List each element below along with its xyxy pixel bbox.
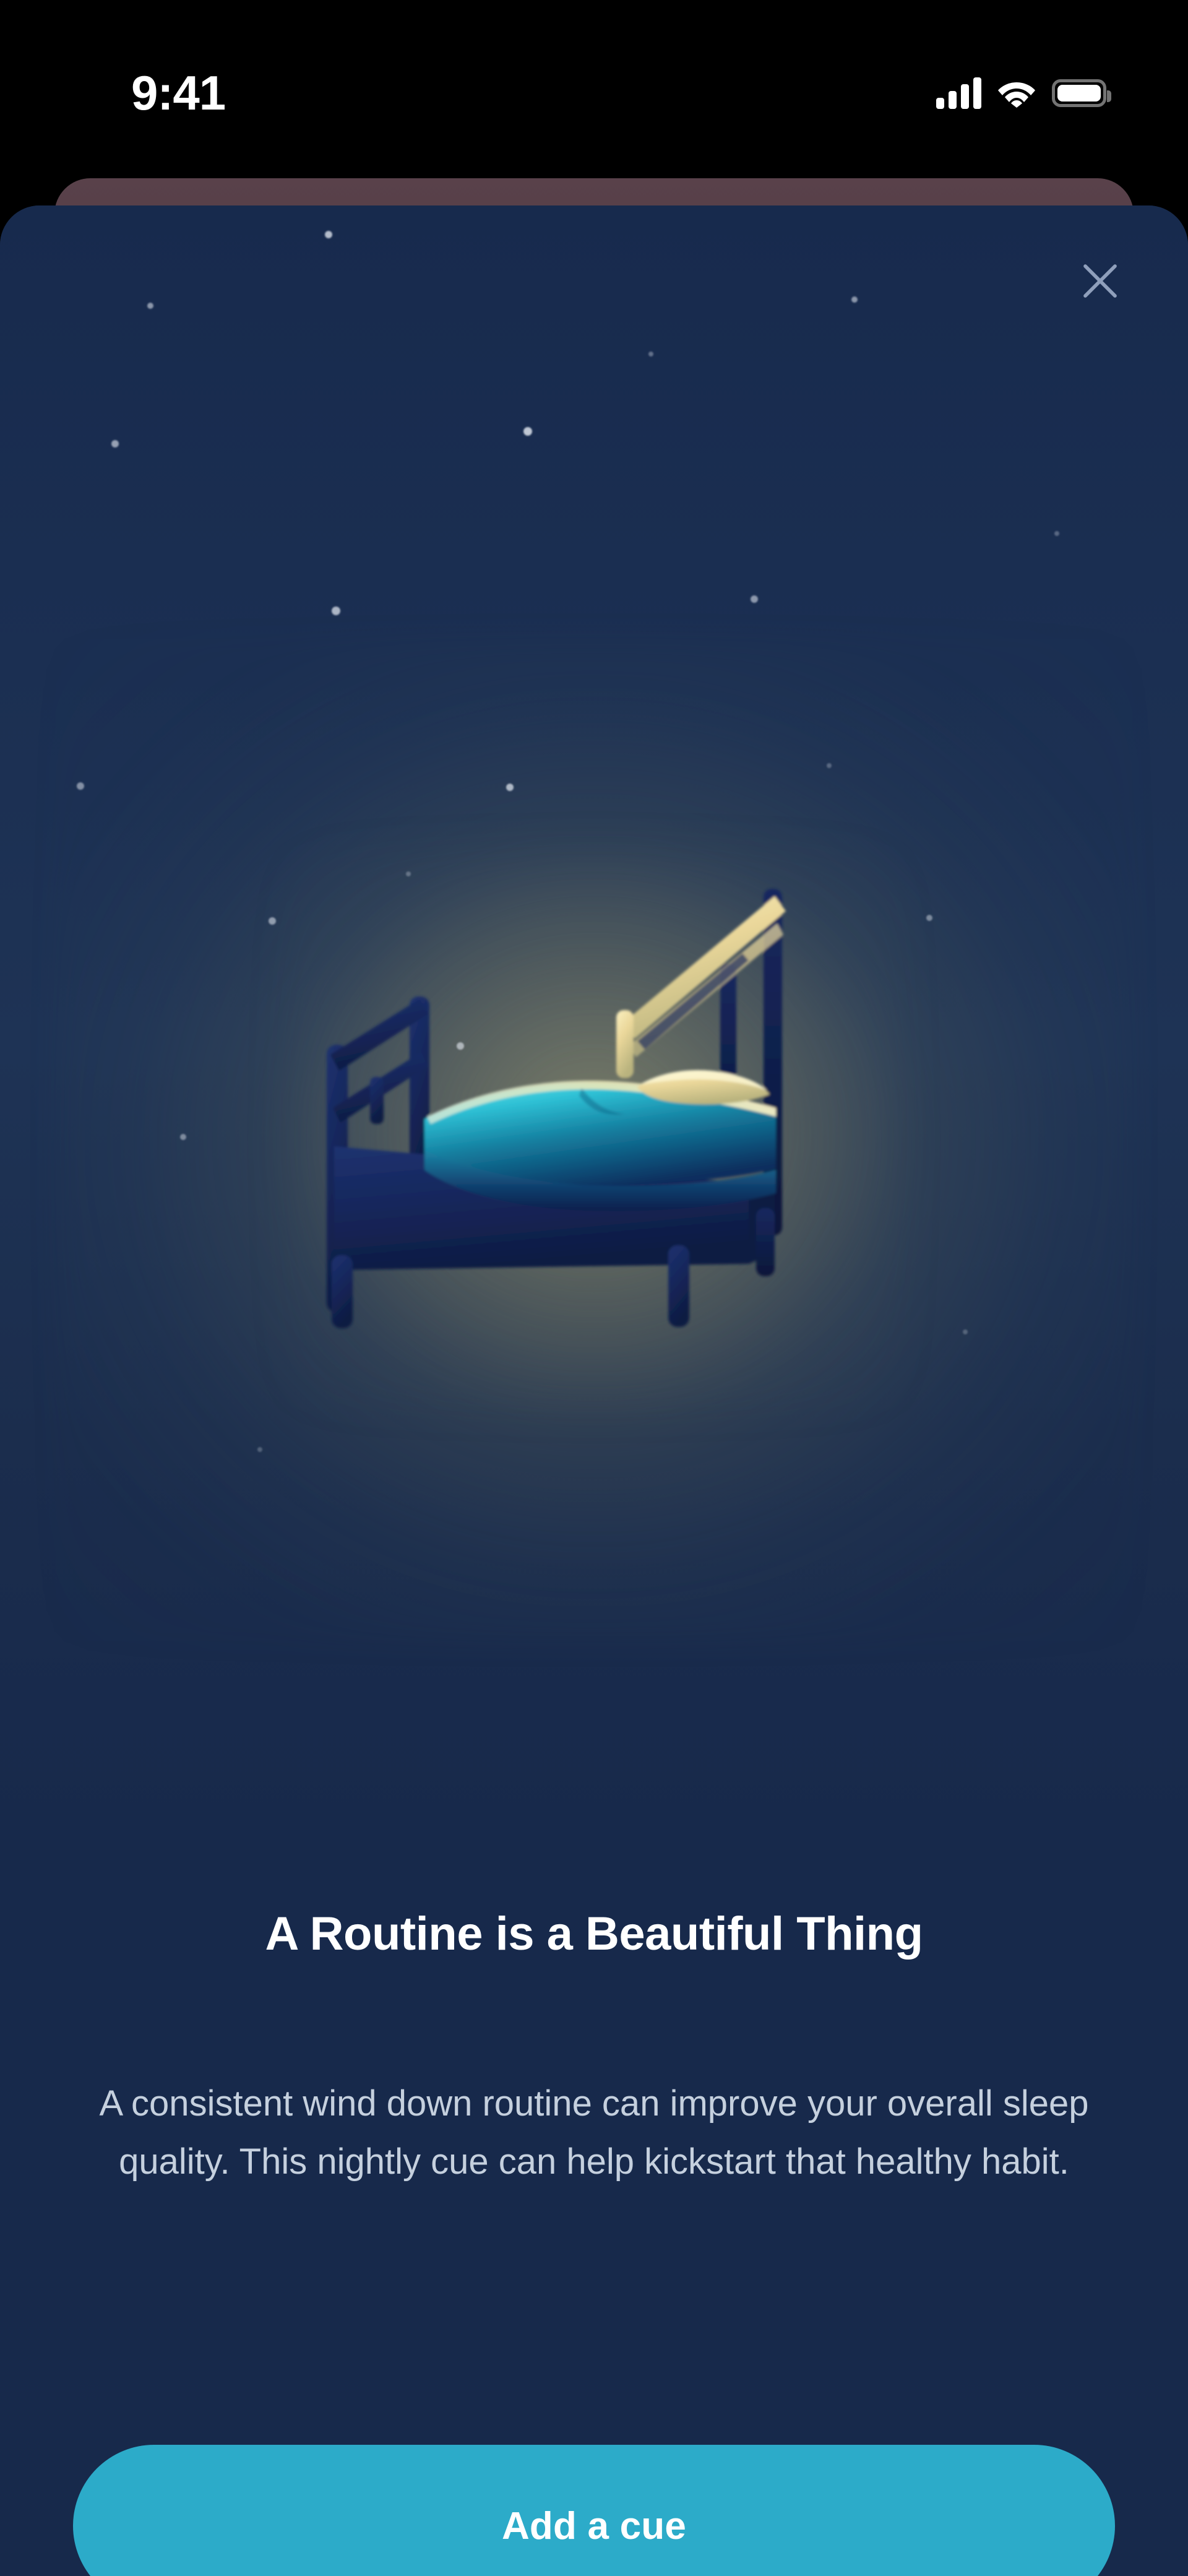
wifi-icon (997, 78, 1036, 108)
status-bar-time: 9:41 (131, 59, 292, 127)
star-dot (332, 607, 340, 615)
star-dot (851, 296, 858, 303)
star-dot (269, 917, 276, 925)
status-bar-indicators (936, 62, 1106, 124)
star-dot (111, 440, 119, 447)
star-dot (648, 352, 653, 357)
close-x-icon (1078, 259, 1122, 303)
hero-illustration-area (0, 205, 1188, 1827)
add-a-cue-button-label: Add a cue (502, 2504, 686, 2548)
battery-full-icon (1052, 79, 1106, 107)
star-dot (77, 782, 84, 790)
star-dot (963, 1329, 968, 1334)
phone-screen: 9:41 (0, 0, 1188, 2576)
page-title: A Routine is a Beautiful Thing (0, 1904, 1188, 1964)
status-bar: 9:41 (0, 0, 1188, 186)
star-dot (147, 303, 153, 309)
star-dot (506, 784, 514, 791)
cellular-signal-icon (936, 77, 981, 109)
star-dot (1054, 531, 1059, 536)
star-dot (257, 1447, 262, 1452)
star-dot (926, 915, 932, 921)
star-dot (827, 763, 832, 768)
add-a-cue-button[interactable]: Add a cue (73, 2445, 1115, 2576)
star-dot (325, 231, 332, 238)
body-text: A consistent wind down routine can impro… (90, 2075, 1098, 2191)
modal-sheet: A Routine is a Beautiful Thing A consist… (0, 205, 1188, 2576)
bed-illustration (316, 837, 872, 1344)
star-dot (180, 1134, 186, 1140)
close-button[interactable] (1063, 244, 1137, 318)
star-dot (523, 427, 532, 436)
star-dot (751, 595, 758, 603)
